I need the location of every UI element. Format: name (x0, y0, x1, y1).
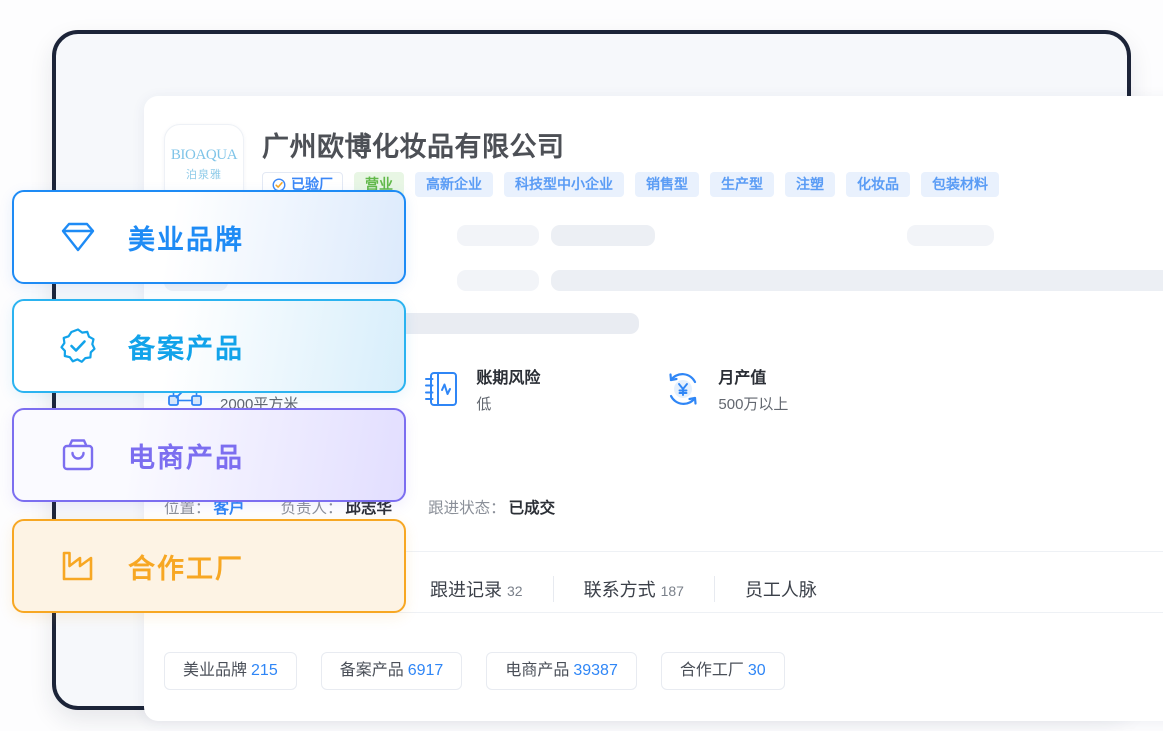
chip-label: 合作工厂 (680, 662, 744, 679)
skeleton-bar (457, 225, 539, 246)
screenshot-root: BIOAQUA 泊泉雅 广州欧博化妆品有限公司 已验厂 (0, 0, 1163, 731)
chip-count: 30 (748, 662, 766, 679)
chip-registered-product[interactable]: 备案产品6917 (321, 652, 463, 690)
chip-label: 电商产品 (505, 662, 569, 679)
diamond-icon (58, 217, 98, 257)
chip-beauty-brand[interactable]: 美业品牌215 (164, 652, 297, 690)
tag-chip: 销售型 (635, 172, 699, 197)
floating-card-beauty-brand[interactable]: 美业品牌 (12, 190, 406, 284)
tag-chip: 包装材料 (921, 172, 999, 197)
floating-card-label: 美业品牌 (128, 218, 244, 257)
chip-row: 美业品牌215 备案产品6917 电商产品39387 合作工厂30 (164, 652, 785, 690)
stat-value: 500万以上 (718, 393, 788, 414)
payment-risk-icon (420, 368, 462, 410)
tab-label: 员工人脉 (745, 576, 817, 602)
stat-value: 低 (476, 393, 540, 414)
tab-label: 联系方式 (584, 576, 656, 602)
meta-value: 已成交 (509, 496, 556, 518)
chip-count: 39387 (573, 662, 618, 679)
tag-chip: 高新企业 (415, 172, 493, 197)
floating-card-ecommerce-product[interactable]: 电商产品 (12, 408, 406, 502)
tag-chip: 科技型中小企业 (504, 172, 624, 197)
chip-count: 215 (251, 662, 278, 679)
stat-monthly-output: 月产值 500万以上 (662, 364, 788, 414)
tag-chip: 化妆品 (846, 172, 910, 197)
floating-card-label: 备案产品 (128, 327, 244, 366)
monthly-output-icon (662, 368, 704, 410)
shopping-bag-icon (58, 435, 98, 475)
logo-text-en: BIOAQUA (171, 147, 237, 164)
floating-card-label: 合作工厂 (128, 547, 244, 586)
chip-label: 美业品牌 (183, 662, 247, 679)
floating-card-partner-factory[interactable]: 合作工厂 (12, 519, 406, 613)
skeleton-bar (551, 225, 655, 246)
tab-follow-records[interactable]: 跟进记录 32 (399, 576, 553, 602)
stat-label: 月产值 (718, 364, 788, 388)
page-title: 广州欧博化妆品有限公司 (262, 125, 565, 164)
chip-count: 6917 (408, 662, 444, 679)
stat-payment-risk: 账期风险 低 (420, 364, 540, 414)
meta-key: 跟进状态： (428, 496, 506, 518)
skeleton-bar (907, 225, 994, 246)
meta-follow-status: 跟进状态： 已成交 (428, 496, 555, 518)
floating-card-registered-product[interactable]: 备案产品 (12, 299, 406, 393)
tag-chip: 注塑 (785, 172, 835, 197)
chip-label: 备案产品 (340, 662, 404, 679)
logo-text-cn: 泊泉雅 (186, 166, 222, 182)
tab-count: 32 (507, 583, 523, 599)
chip-partner-factory[interactable]: 合作工厂30 (661, 652, 785, 690)
tab-count: 187 (661, 583, 684, 599)
chip-ecommerce-product[interactable]: 电商产品39387 (486, 652, 637, 690)
tag-chip: 生产型 (710, 172, 774, 197)
factory-icon (58, 546, 98, 586)
tab-employee-network[interactable]: 员工人脉 (714, 576, 847, 602)
tab-label: 跟进记录 (430, 576, 502, 602)
skeleton-bar (551, 270, 1163, 291)
badge-check-icon (58, 326, 98, 366)
tab-contact-info[interactable]: 联系方式 187 (553, 576, 714, 602)
floating-card-label: 电商产品 (128, 436, 244, 475)
skeleton-bar (457, 270, 539, 291)
stat-label: 账期风险 (476, 364, 540, 388)
